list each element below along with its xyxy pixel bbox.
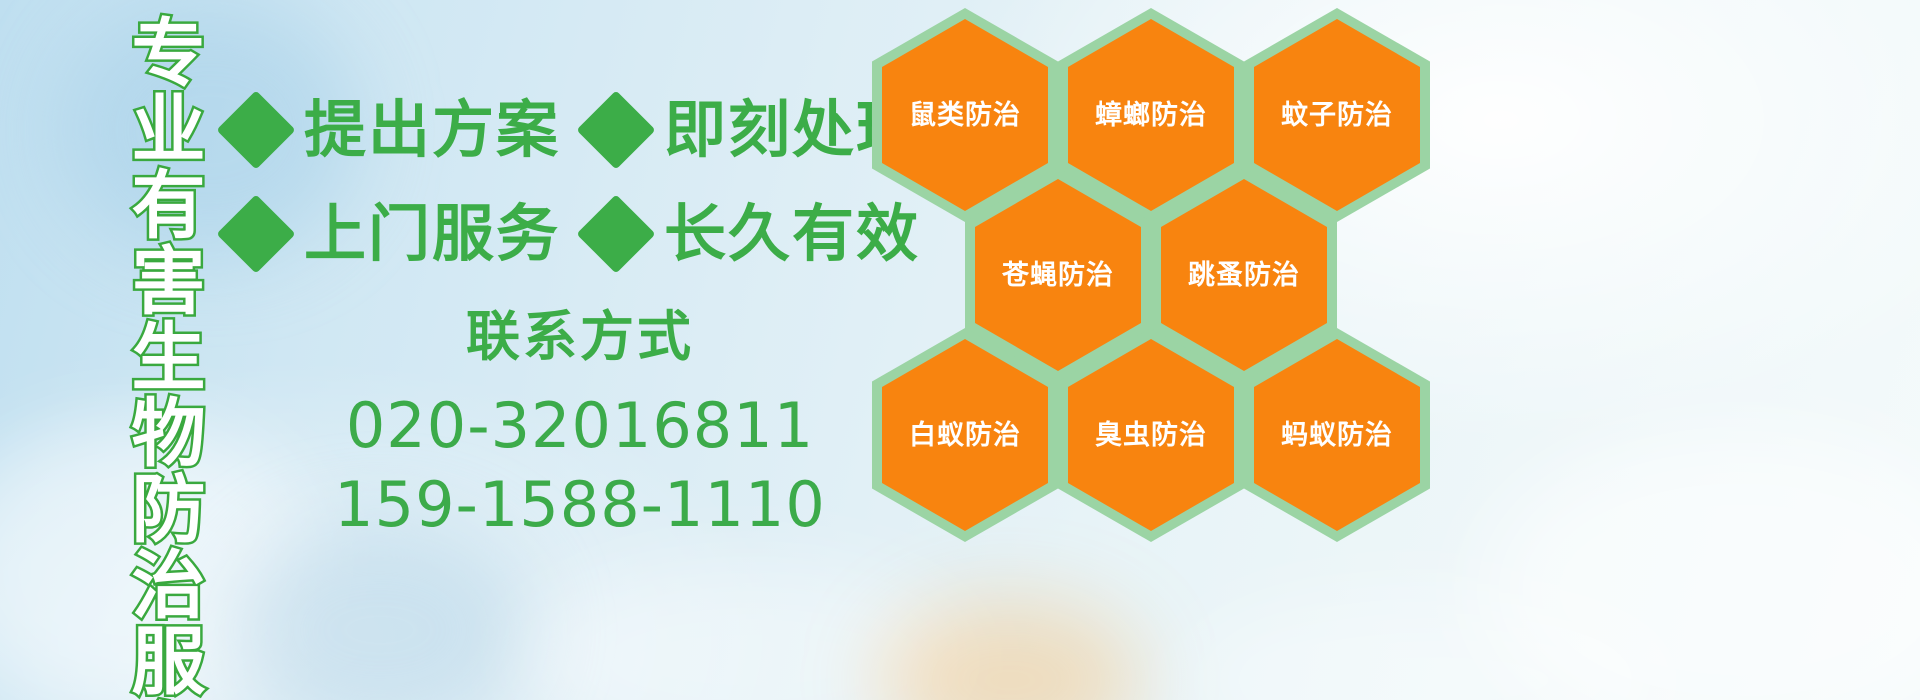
- banner-canvas: 专业有害生物防治服务 提出方案 即刻处理 上门服务 长久有效: [0, 0, 1920, 700]
- diamond-bullet-icon: [216, 194, 295, 273]
- phone-number-mobile[interactable]: 159-1588-1110: [300, 465, 860, 544]
- service-honeycomb: 鼠类防治 蟑螂防治 蚊子防治 苍蝇防治 跳蚤防治 白蚁防治: [862, 0, 1462, 560]
- background-blob: [880, 600, 1140, 700]
- hex-label: 鼠类防治: [909, 102, 1021, 129]
- diamond-bullet-icon: [576, 90, 655, 169]
- feature-label: 上门服务: [304, 203, 560, 265]
- feature-item-onsite-service: 上门服务: [228, 203, 560, 265]
- feature-row: 提出方案 即刻处理: [228, 78, 868, 182]
- hex-inner: 蚂蚁防治: [1254, 339, 1420, 531]
- hex-label: 苍蝇防治: [1002, 262, 1114, 289]
- feature-row: 上门服务 长久有效: [228, 182, 868, 286]
- feature-label: 提出方案: [304, 99, 560, 161]
- hex-inner: 白蚁防治: [882, 339, 1048, 531]
- hex-inner: 苍蝇防治: [975, 179, 1141, 371]
- contact-title: 联系方式: [300, 310, 860, 364]
- hex-inner: 蟑螂防治: [1068, 19, 1234, 211]
- phone-number-landline[interactable]: 020-32016811: [300, 386, 860, 465]
- hex-inner: 臭虫防治: [1068, 339, 1234, 531]
- background-blob: [520, 560, 980, 700]
- background-blob: [1180, 590, 1680, 700]
- hex-label: 跳蚤防治: [1188, 262, 1300, 289]
- contact-block: 联系方式 020-32016811 159-1588-1110: [300, 310, 860, 545]
- hex-inner: 蚊子防治: [1254, 19, 1420, 211]
- hex-label: 臭虫防治: [1095, 422, 1207, 449]
- background-blob: [230, 520, 530, 700]
- hex-label: 蚊子防治: [1281, 102, 1393, 129]
- background-blob: [1480, 430, 1920, 700]
- hex-label: 蚂蚁防治: [1281, 422, 1393, 449]
- feature-list: 提出方案 即刻处理 上门服务 长久有效: [228, 78, 868, 286]
- diamond-bullet-icon: [216, 90, 295, 169]
- hex-label: 蟑螂防治: [1095, 102, 1207, 129]
- hex-label: 白蚁防治: [909, 422, 1021, 449]
- hex-inner: 鼠类防治: [882, 19, 1048, 211]
- feature-item-propose-plan: 提出方案: [228, 99, 560, 161]
- diamond-bullet-icon: [576, 194, 655, 273]
- hex-inner: 跳蚤防治: [1161, 179, 1327, 371]
- vertical-headline: 专业有害生物防治服务: [103, 14, 199, 700]
